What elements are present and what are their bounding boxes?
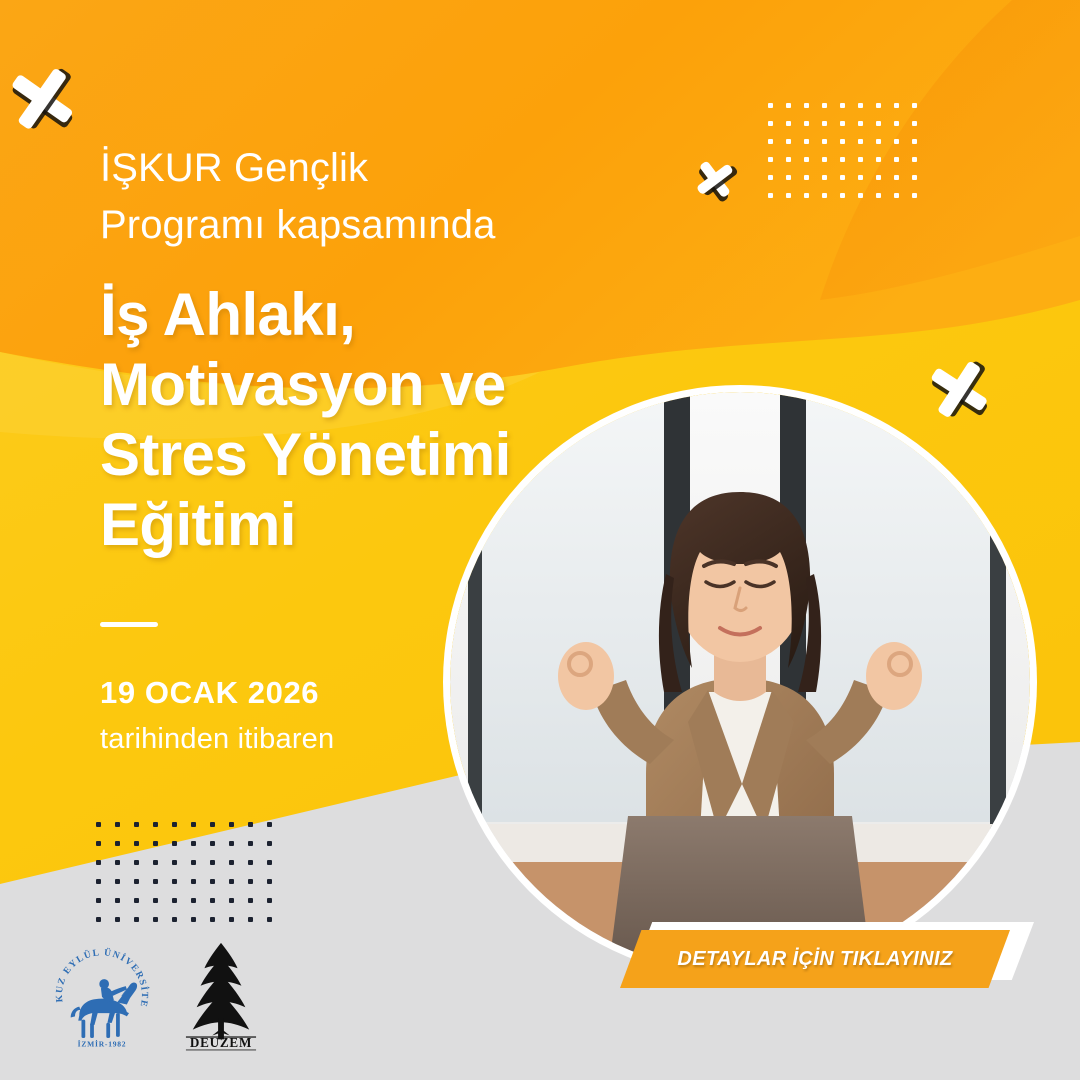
divider — [100, 622, 158, 627]
text-block: İŞKUR Gençlik Programı kapsamında İş Ahl… — [100, 140, 660, 756]
eyebrow-line-1: İŞKUR Gençlik — [100, 140, 660, 197]
cta-label: DETAYLAR İÇİN TIKLAYINIZ — [677, 948, 952, 971]
logo-row: DOKUZ EYLÜL ÜNİVERSİTESİ — [48, 940, 260, 1057]
cta-button[interactable]: DETAYLAR İÇİN TIKLAYINIZ — [620, 930, 1024, 988]
university-seal-icon: DOKUZ EYLÜL ÜNİVERSİTESİ — [48, 944, 156, 1052]
pine-tree-icon: DEUZEM — [182, 940, 260, 1052]
x-mark-icon — [32, 56, 120, 144]
event-date-suffix: tarihinden itibaren — [100, 723, 660, 756]
cta-body[interactable]: DETAYLAR İÇİN TIKLAYINIZ — [620, 930, 1010, 988]
x-mark-icon — [707, 160, 761, 214]
promo-poster: İŞKUR Gençlik Programı kapsamında İş Ahl… — [0, 0, 1080, 1080]
deuzem-wordmark: DEUZEM — [190, 1035, 252, 1050]
seal-sub-text: İZMİR-1982 — [78, 1039, 127, 1049]
headline-line-1: İş Ahlakı, Motivasyon ve — [100, 280, 660, 420]
dot-grid-top — [768, 103, 928, 199]
eyebrow-line-2: Programı kapsamında — [100, 197, 660, 254]
event-date: 19 OCAK 2026 — [100, 675, 660, 711]
dot-grid-bottom — [96, 822, 276, 922]
page-title: İş Ahlakı, Motivasyon ve Stres Yönetimi … — [100, 280, 660, 561]
deuzem-logo: DEUZEM — [182, 940, 260, 1057]
dokuz-eylul-universitesi-logo: DOKUZ EYLÜL ÜNİVERSİTESİ — [48, 944, 156, 1057]
headline-line-2: Stres Yönetimi — [100, 420, 660, 490]
headline-line-3: Eğitimi — [100, 490, 660, 560]
